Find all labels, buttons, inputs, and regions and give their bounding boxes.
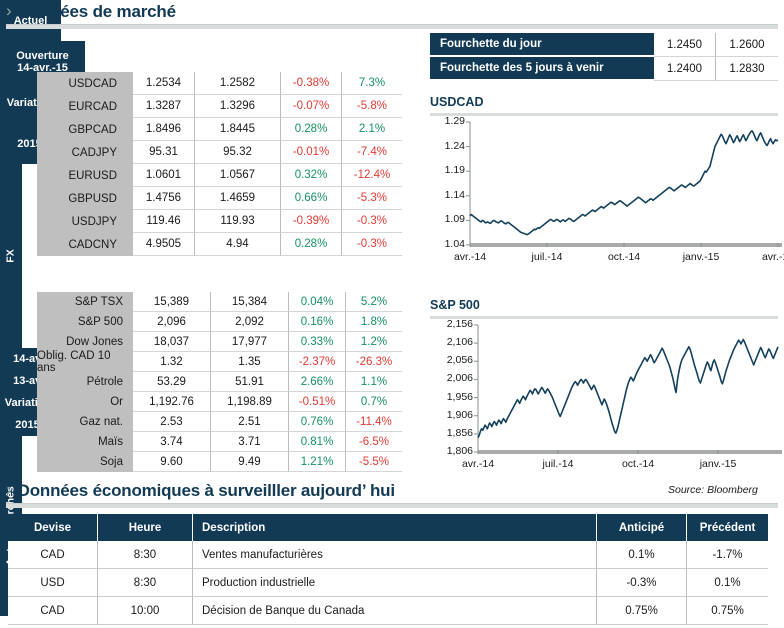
chart-series-line	[478, 340, 778, 438]
chart-usdcad-plot	[464, 118, 784, 251]
chart-y-tick-label: 1.19	[433, 164, 465, 176]
fx-cell-2015: -5.3%	[342, 187, 402, 210]
fx-cell-ouverture: 95.32	[195, 141, 281, 164]
fx-cell-actuel: 4.9505	[133, 233, 195, 256]
section-divider-econ	[6, 503, 778, 508]
chart-title-sp500: S&P 500	[430, 298, 480, 312]
range-row-high: 1.2830	[716, 57, 778, 81]
econ-cell-anticipe: 0.75%	[597, 597, 687, 625]
range-row-high: 1.2600	[716, 33, 778, 57]
other-cell-c1: 15,389	[133, 292, 211, 312]
econ-cell-description: Ventes manufacturières	[193, 541, 597, 569]
other-cell-c1: 1,192.76	[133, 392, 211, 412]
fx-cell-variation: -0.38%	[281, 72, 342, 95]
other-cell-2015: -6.5%	[346, 432, 402, 452]
other-cell-variation: -2.37%	[289, 352, 346, 372]
chart-y-tick-label: 2,156	[435, 318, 473, 330]
chart-x-tick-label: oct.-14	[589, 251, 659, 263]
page-title: Données de marché	[18, 2, 176, 21]
fx-cell-2015: -7.4%	[342, 141, 402, 164]
econ-cell-precedent: 0.1%	[687, 569, 768, 597]
fx-cell-ouverture: 1.4659	[195, 187, 281, 210]
econ-header-heure: Heure	[98, 514, 193, 541]
range-row-low: 1.2400	[654, 57, 716, 81]
range-row-low: 1.2450	[654, 33, 716, 57]
fx-cell-actuel: 119.46	[133, 210, 195, 233]
fx-cell-2015: 2.1%	[342, 118, 402, 141]
other-cell-c1: 18,037	[133, 332, 211, 352]
fx-cell-actuel: 1.8496	[133, 118, 195, 141]
other-cell-variation: 2.66%	[289, 372, 346, 392]
chart-x-tick-label: avr.-14	[435, 251, 505, 263]
econ-cell-description: Production industrielle	[193, 569, 597, 597]
other-row-label: Gaz nat.	[37, 412, 133, 432]
chart-y-tick-label: 1,956	[435, 391, 473, 403]
chart-y-tick-label: 1,806	[435, 445, 473, 457]
chart-x-tick-label: juil.-14	[512, 251, 582, 263]
fx-row-label: EURUSD	[37, 164, 133, 187]
other-cell-variation: 0.81%	[289, 432, 346, 452]
chart-divider-usdcad	[430, 113, 778, 116]
other-cell-variation: 1.21%	[289, 452, 346, 472]
econ-cell-anticipe: 0.1%	[597, 541, 687, 569]
other-cell-c2: 1,198.89	[211, 392, 289, 412]
chart-y-tick-label: 1.04	[433, 238, 465, 250]
other-cell-c1: 53.29	[133, 372, 211, 392]
other-row-label: Pétrole	[37, 372, 133, 392]
fx-row-label: CADJPY	[37, 141, 133, 164]
other-cell-c1: 2,096	[133, 312, 211, 332]
fx-cell-ouverture: 1.0567	[195, 164, 281, 187]
other-row-label: S&P TSX	[37, 292, 133, 312]
chart-title-usdcad: USDCAD	[430, 95, 483, 109]
fx-cell-variation: 0.32%	[281, 164, 342, 187]
other-cell-2015: 1.1%	[346, 372, 402, 392]
section-header-econ: › Données économiques à surveilller aujo…	[6, 481, 395, 500]
other-cell-variation: 0.04%	[289, 292, 346, 312]
other-row-label: Dow Jones	[37, 332, 133, 352]
fx-cell-actuel: 1.4756	[133, 187, 195, 210]
econ-cell-devise: CAD	[8, 597, 98, 625]
other-cell-2015: 5.2%	[346, 292, 402, 312]
econ-section-title: Données économiques à surveilller aujour…	[18, 481, 395, 500]
chart-y-tick-label: 1.14	[433, 189, 465, 201]
econ-header-precedent: Précédent	[687, 514, 768, 541]
chart-y-tick-label: 1,906	[435, 409, 473, 421]
other-row-label: S&P 500	[37, 312, 133, 332]
fx-cell-ouverture: 4.94	[195, 233, 281, 256]
other-cell-c1: 1.32	[133, 352, 211, 372]
econ-cell-devise: USD	[8, 569, 98, 597]
fx-cell-variation: -0.39%	[281, 210, 342, 233]
chart-x-tick-label: avr.-15	[743, 251, 784, 263]
fx-cell-actuel: 1.0601	[133, 164, 195, 187]
fx-cell-ouverture: 1.3296	[195, 95, 281, 118]
fx-cell-actuel: 1.3287	[133, 95, 195, 118]
fx-cell-2015: -0.3%	[342, 210, 402, 233]
chart-x-tick-label: oct.-14	[603, 458, 673, 470]
econ-header-description: Description	[193, 514, 597, 541]
econ-cell-precedent: 0.75%	[687, 597, 768, 625]
source-note: Source: Bloomberg	[668, 484, 758, 496]
fx-cell-variation: 0.28%	[281, 118, 342, 141]
fx-cell-variation: -0.07%	[281, 95, 342, 118]
econ-cell-anticipe: -0.3%	[597, 569, 687, 597]
other-cell-c2: 2.51	[211, 412, 289, 432]
fx-row-label: CADCNY	[37, 233, 133, 256]
fx-header-ouverture-label: Ouverture	[16, 50, 69, 62]
other-cell-c2: 1.35	[211, 352, 289, 372]
other-cell-2015: -11.4%	[346, 412, 402, 432]
econ-header-devise: Devise	[8, 514, 98, 541]
fx-cell-2015: -0.3%	[342, 233, 402, 256]
chart-divider-sp500	[430, 316, 778, 319]
fx-cell-actuel: 95.31	[133, 141, 195, 164]
chart-x-tick-label: juil.-14	[523, 458, 593, 470]
fx-cell-variation: 0.66%	[281, 187, 342, 210]
other-cell-c2: 15,384	[211, 292, 289, 312]
chart-x-tick-label: janv.-15	[683, 458, 753, 470]
econ-cell-devise: CAD	[8, 541, 98, 569]
chart-x-tick-label: avr.-14	[443, 458, 513, 470]
fx-row-label: GBPCAD	[37, 118, 133, 141]
range-row-label: Fourchette des 5 jours à venir	[430, 57, 654, 81]
other-cell-variation: 0.76%	[289, 412, 346, 432]
chart-y-tick-label: 2,106	[435, 336, 473, 348]
econ-cell-precedent: -1.7%	[687, 541, 768, 569]
other-cell-variation: 0.16%	[289, 312, 346, 332]
fx-cell-2015: -12.4%	[342, 164, 402, 187]
other-cell-c2: 3.71	[211, 432, 289, 452]
other-row-label: Or	[37, 392, 133, 412]
fx-spine: FX	[0, 164, 22, 348]
other-cell-c2: 17,977	[211, 332, 289, 352]
chart-y-tick-label: 1.24	[433, 140, 465, 152]
chart-x-tick-label: janv.-15	[666, 251, 736, 263]
fx-row-label: GBPUSD	[37, 187, 133, 210]
other-cell-2015: 0.7%	[346, 392, 402, 412]
chart-sp500-plot	[472, 321, 784, 458]
other-cell-2015: -5.5%	[346, 452, 402, 472]
other-row-label: Soja	[37, 452, 133, 472]
fx-row-label: USDJPY	[37, 210, 133, 233]
fx-cell-ouverture: 1.8445	[195, 118, 281, 141]
other-cell-c2: 9.49	[211, 452, 289, 472]
other-cell-c1: 3.74	[133, 432, 211, 452]
other-cell-c2: 51.91	[211, 372, 289, 392]
fx-spine-label: FX	[5, 249, 17, 262]
fx-row-label: USDCAD	[37, 72, 133, 95]
chevron-right-icon-2: ›	[6, 481, 12, 499]
other-cell-c2: 2,092	[211, 312, 289, 332]
fx-cell-2015: -5.8%	[342, 95, 402, 118]
fx-cell-ouverture: 1.2582	[195, 72, 281, 95]
chart-series-line	[470, 131, 778, 235]
other-cell-2015: 1.2%	[346, 332, 402, 352]
other-cell-2015: 1.8%	[346, 312, 402, 332]
fx-cell-variation: 0.28%	[281, 233, 342, 256]
other-cell-c1: 2.53	[133, 412, 211, 432]
chart-y-tick-label: 2,056	[435, 354, 473, 366]
other-cell-2015: -26.3%	[346, 352, 402, 372]
econ-cell-description: Décision de Banque du Canada	[193, 597, 597, 625]
chevron-right-icon: ›	[6, 2, 12, 20]
econ-cell-heure: 8:30	[98, 569, 193, 597]
market-dashboard-page: › Données de marché Actuel Ouverture 14-…	[0, 0, 784, 628]
other-row-label: Oblig. CAD 10 ans	[37, 352, 133, 372]
other-cell-c1: 9.60	[133, 452, 211, 472]
chart-y-tick-label: 2,006	[435, 372, 473, 384]
econ-cell-heure: 10:00	[98, 597, 193, 625]
chart-y-tick-label: 1.09	[433, 213, 465, 225]
other-cell-variation: 0.33%	[289, 332, 346, 352]
econ-cell-heure: 8:30	[98, 541, 193, 569]
other-cell-variation: -0.51%	[289, 392, 346, 412]
fx-cell-actuel: 1.2534	[133, 72, 195, 95]
fx-row-label: EURCAD	[37, 95, 133, 118]
fx-cell-2015: 7.3%	[342, 72, 402, 95]
section-divider-market	[6, 24, 778, 29]
econ-header-anticipe: Anticipé	[597, 514, 687, 541]
fx-cell-variation: -0.01%	[281, 141, 342, 164]
chart-y-tick-label: 1.29	[433, 115, 465, 127]
fx-cell-ouverture: 119.93	[195, 210, 281, 233]
section-header-market: › Données de marché	[6, 2, 176, 21]
other-row-label: Maïs	[37, 432, 133, 452]
range-row-label: Fourchette du jour	[430, 33, 654, 57]
chart-y-tick-label: 1,856	[435, 427, 473, 439]
